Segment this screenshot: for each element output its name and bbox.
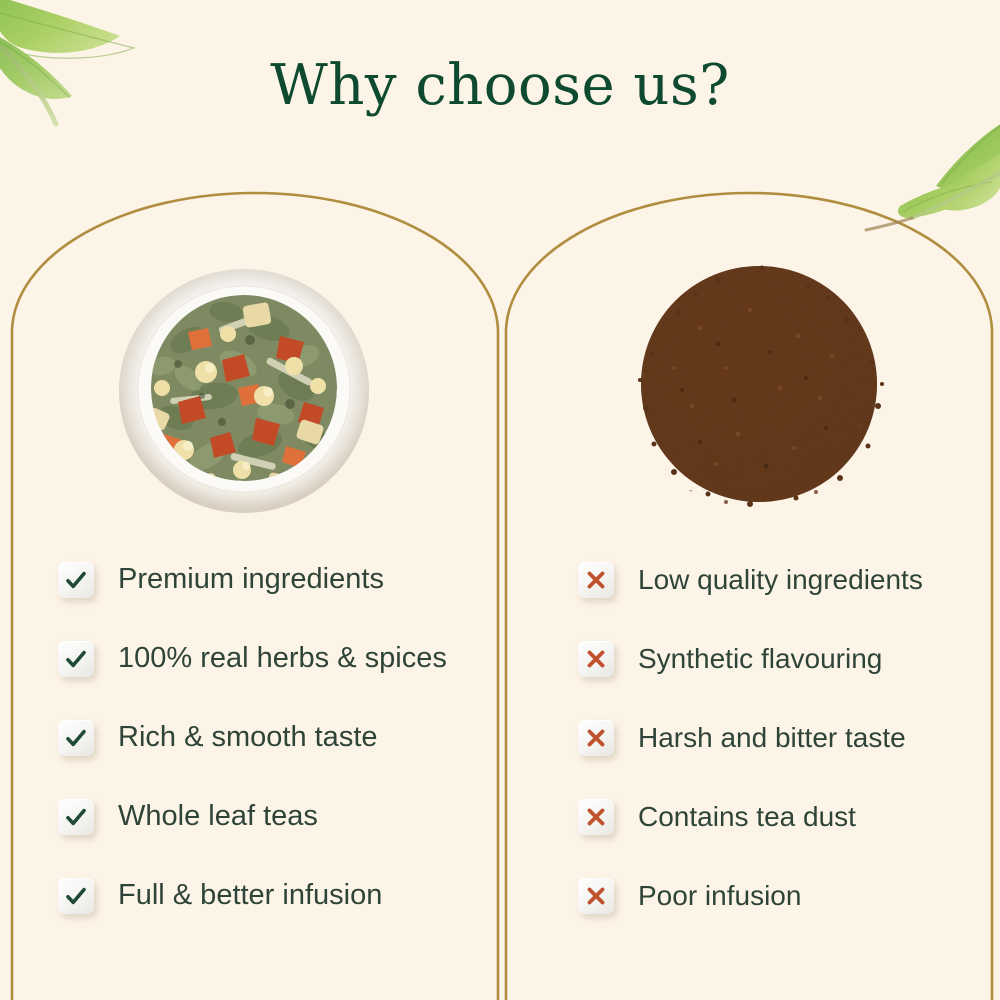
list-item-label: Full & better infusion <box>118 881 382 910</box>
check-icon <box>58 562 94 598</box>
benefits-list: Premium ingredients 100% real herbs & sp… <box>58 540 488 935</box>
cross-icon <box>578 720 614 756</box>
list-item: Poor infusion <box>578 856 988 935</box>
drawbacks-list: Low quality ingredients Synthetic flavou… <box>578 540 988 935</box>
cross-icon <box>578 641 614 677</box>
list-item: Full & better infusion <box>58 856 488 935</box>
list-item-label: Low quality ingredients <box>638 566 923 594</box>
list-item-label: Rich & smooth taste <box>118 723 378 752</box>
check-icon <box>58 641 94 677</box>
list-item: Contains tea dust <box>578 777 988 856</box>
check-icon <box>58 720 94 756</box>
page-title: Why choose us? <box>0 58 1000 114</box>
list-item-label: Contains tea dust <box>638 803 856 831</box>
list-item-label: Synthetic flavouring <box>638 645 882 673</box>
cross-icon <box>578 878 614 914</box>
tea-dust-pile-image <box>630 258 888 510</box>
check-icon <box>58 799 94 835</box>
cross-icon <box>578 562 614 598</box>
list-item: Premium ingredients <box>58 540 488 619</box>
tea-leaf-top-right <box>866 118 1000 230</box>
list-item-label: Harsh and bitter taste <box>638 724 906 752</box>
list-item-label: Whole leaf teas <box>118 802 318 831</box>
list-item: 100% real herbs & spices <box>58 619 488 698</box>
list-item: Whole leaf teas <box>58 777 488 856</box>
list-item-label: Poor infusion <box>638 882 801 910</box>
list-item: Synthetic flavouring <box>578 619 988 698</box>
list-item-label: Premium ingredients <box>118 565 384 594</box>
cross-icon <box>578 799 614 835</box>
list-item: Harsh and bitter taste <box>578 698 988 777</box>
list-item: Low quality ingredients <box>578 540 988 619</box>
list-item-label: 100% real herbs & spices <box>118 644 447 673</box>
comparison-infographic: Why choose us? <box>0 0 1000 1000</box>
check-icon <box>58 878 94 914</box>
list-item: Rich & smooth taste <box>58 698 488 777</box>
whole-leaf-tea-bowl-image <box>118 268 370 514</box>
